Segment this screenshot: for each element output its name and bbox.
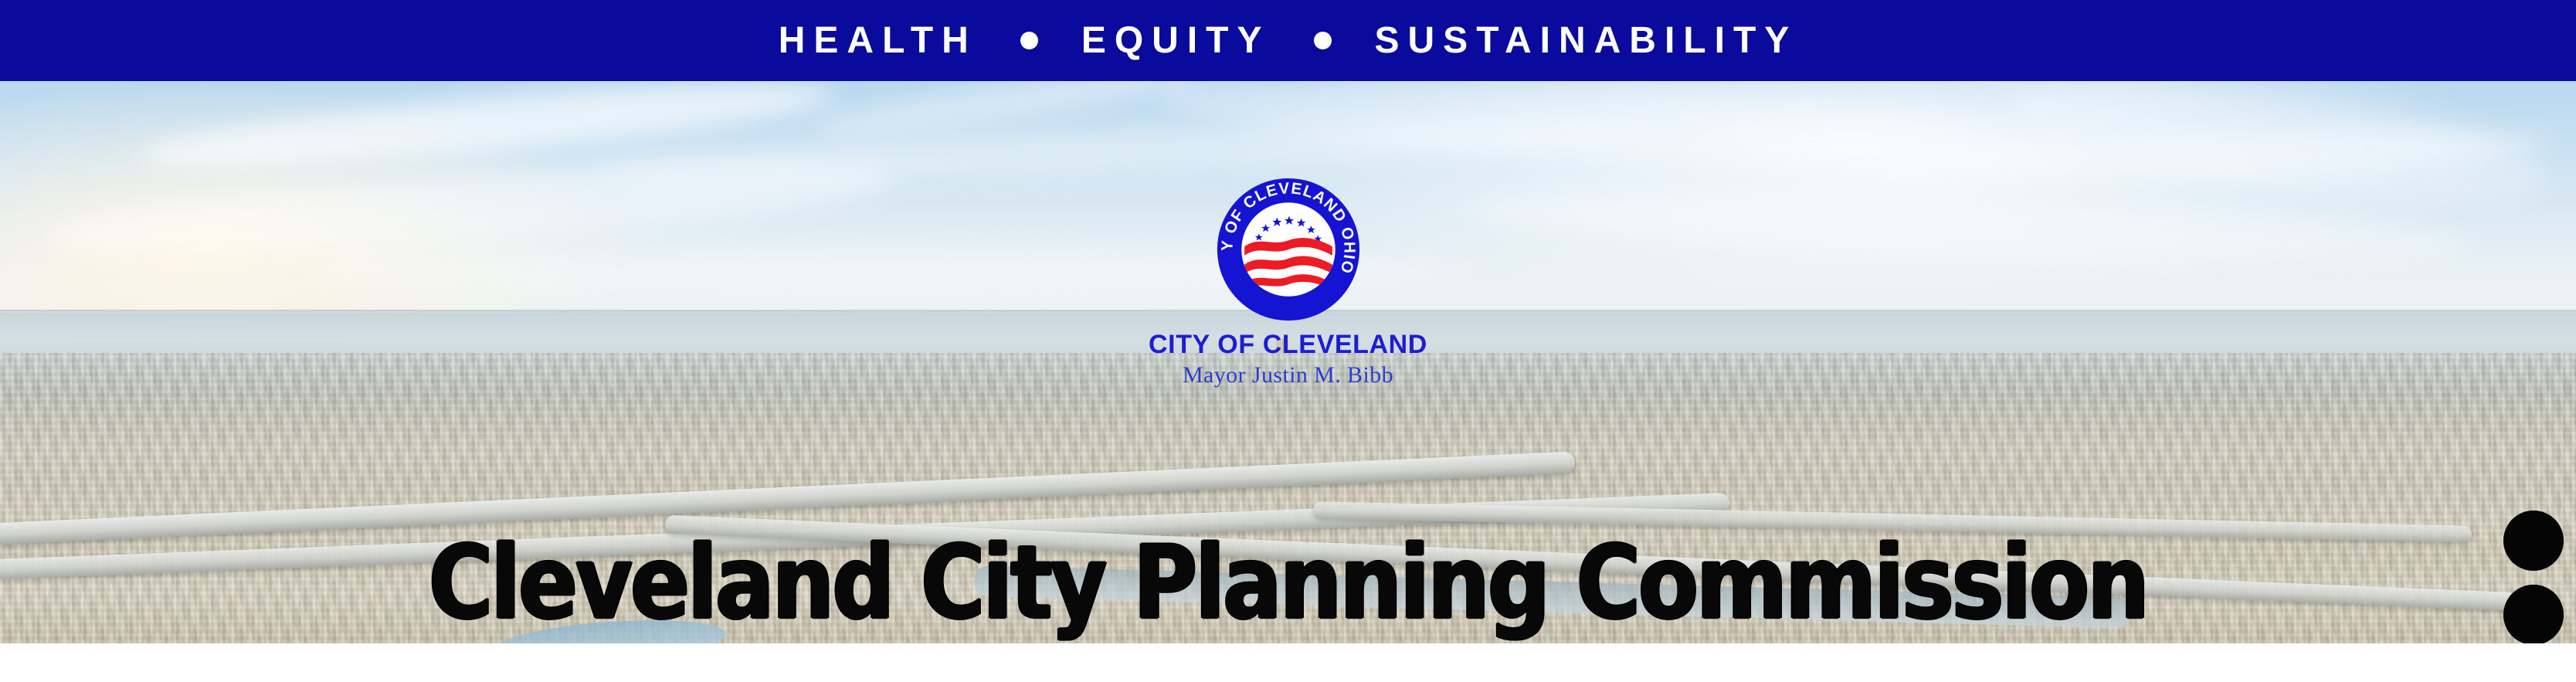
hero-photo: CITY OF CLEVELAND OHIO <box>0 81 2576 643</box>
page-title: Cleveland City Planning Commission <box>52 531 2525 633</box>
mayor-name: Mayor Justin M. Bibb <box>1088 363 1489 388</box>
tagline-word-equity: EQUITY <box>1081 22 1271 59</box>
tagline-banner-inner: HEALTH EQUITY SUSTAINABILITY <box>779 22 1798 59</box>
bullet-dot-icon <box>1020 32 1038 49</box>
tagline-banner: HEALTH EQUITY SUSTAINABILITY <box>0 0 2576 81</box>
bullet-dot-icon <box>1314 32 1332 49</box>
instagram-icon <box>2503 585 2564 643</box>
page-root: HEALTH EQUITY SUSTAINABILITY <box>0 0 2576 682</box>
organization-name: CITY OF CLEVELAND <box>1088 331 1489 359</box>
youtube-icon <box>2503 511 2564 571</box>
city-logo-block: CITY OF CLEVELAND OHIO <box>1088 174 1489 387</box>
social-link-instagram[interactable] <box>2503 585 2564 643</box>
social-link-youtube[interactable] <box>2503 511 2564 571</box>
social-links-rail <box>2503 511 2564 643</box>
tagline-word-sustainability: SUSTAINABILITY <box>1375 22 1798 59</box>
tagline-word-health: HEALTH <box>779 22 977 59</box>
city-of-cleveland-seal-icon: CITY OF CLEVELAND OHIO <box>1213 174 1364 325</box>
